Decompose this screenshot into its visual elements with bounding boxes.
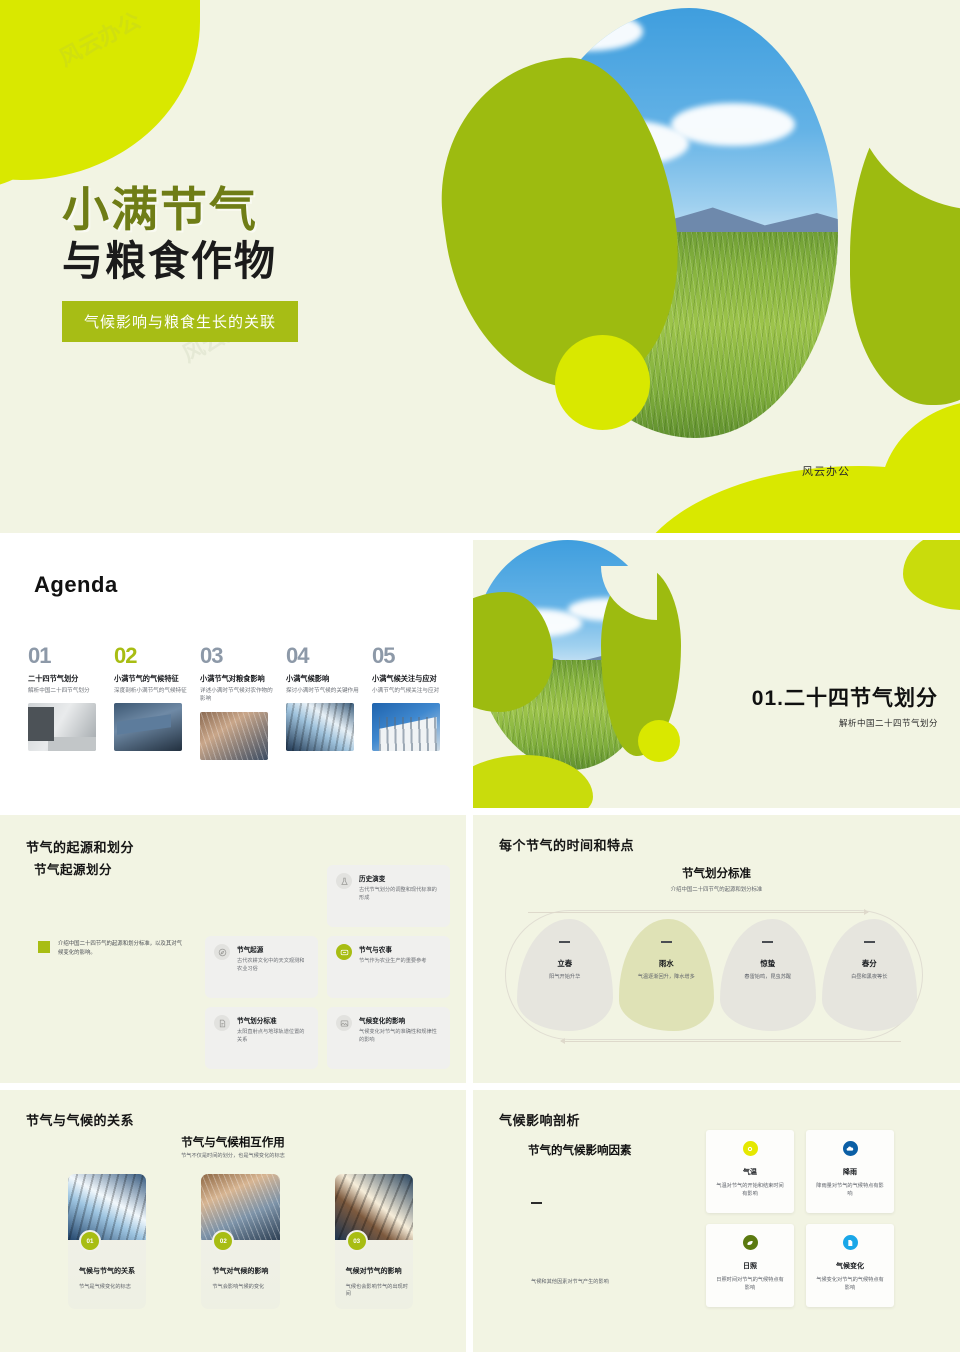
factor-desc: 气候变化对节气的气候特点有影响 xyxy=(814,1277,886,1293)
factor-card[interactable]: 降雨 降雨量对节气的气候特点有影响 xyxy=(806,1130,894,1213)
card-desc: 古代节气划分的调整和现代标准的形成 xyxy=(359,886,441,902)
slide-heading: 节气与气候的关系 xyxy=(26,1110,134,1129)
lime-dot xyxy=(638,720,680,762)
flask-icon xyxy=(336,873,352,889)
agenda-item-title: 小满气候影响 xyxy=(286,674,362,683)
slide-term-climate-relation[interactable]: 节气与气候的关系 节气与气候相互作用 节气不仅是时间的划分，也是气候变化的标志 … xyxy=(0,1090,466,1352)
cloud-icon xyxy=(843,1141,858,1156)
agenda-thumbnail xyxy=(114,703,182,751)
slide-heading: 节气的起源和划分 xyxy=(26,837,134,856)
timeline-subtitle: 介绍中国二十四节气的起源和划分标准 xyxy=(473,885,960,893)
intro-text: 介绍中国二十四节气的起源和划分标准，以及其对气候变化的影响。 xyxy=(58,940,183,957)
timeline-heading: 节气划分标准 xyxy=(473,865,960,881)
card-title: 气候与节气的关系 xyxy=(79,1266,146,1276)
lime-dot xyxy=(555,335,650,430)
agenda-item-desc: 小满节气的气候关注与应对 xyxy=(372,687,448,695)
agenda-item[interactable]: 02 小满节气的气候特征 深度剖析小满节气的气候特征 xyxy=(114,645,190,760)
agenda-thumbnail xyxy=(372,703,440,751)
brand-label: 风云办公 xyxy=(802,463,850,479)
timeline-node[interactable]: 雨水 气温逐渐回升，降水增多 xyxy=(619,919,715,1031)
card-thumbnail: 02 xyxy=(201,1174,279,1240)
card-desc: 太阳直射点与地球轨道位置的关系 xyxy=(237,1028,309,1044)
section-heading: 01.二十四节气划分 xyxy=(723,682,938,712)
node-title: 惊蛰 xyxy=(760,958,775,969)
agenda-item[interactable]: 01 二十四节气划分 解析中国二十四节气划分 xyxy=(28,645,104,760)
timeline-node[interactable]: 立春 阳气开始升华 xyxy=(517,919,613,1031)
node-marker xyxy=(864,941,875,943)
node-marker xyxy=(762,941,773,943)
card-badge: 03 xyxy=(346,1230,368,1252)
card-title: 气候对节气的影响 xyxy=(346,1266,413,1276)
feature-card[interactable]: 节气与农事 节气作为农业生产的重要参考 xyxy=(327,936,450,998)
timeline-nodes: 立春 阳气开始升华 雨水 气温逐渐回升，降水增多 惊蛰 春雷始鸣，昆虫苏醒 春分… xyxy=(517,919,917,1031)
card-title: 节气与农事 xyxy=(359,944,426,954)
node-title: 春分 xyxy=(862,958,877,969)
card-badge: 02 xyxy=(212,1230,234,1252)
feature-card[interactable]: 历史演变 古代节气划分的调整和现代标准的形成 xyxy=(327,865,450,927)
agenda-title: Agenda xyxy=(34,572,118,598)
agenda-item-title: 小满节气的气候特征 xyxy=(114,674,190,683)
agenda-item-desc: 深度剖析小满节气的气候特征 xyxy=(114,687,190,695)
agenda-item-desc: 解析中国二十四节气划分 xyxy=(28,687,104,695)
agenda-item[interactable]: 04 小满气候影响 探讨小满时节气候的关键作用 xyxy=(286,645,362,760)
agenda-number: 03 xyxy=(200,645,276,667)
slide-title[interactable]: 风云办公 风云办公 风云办公 风云办公 小满节气 与粮食作物 气候影响与粮 xyxy=(0,0,960,533)
node-marker xyxy=(661,941,672,943)
relation-card[interactable]: 03 气候对节气的影响 气候也会影响节气的出现时间 xyxy=(335,1174,413,1309)
feature-card[interactable]: 节气划分标准 太阳直射点与地球轨道位置的关系 xyxy=(205,1007,318,1069)
agenda-item[interactable]: 05 小满气候关注与应对 小满节气的气候关注与应对 xyxy=(372,645,448,760)
card-desc: 节气会影响气候的变化 xyxy=(212,1283,279,1290)
slide-origin-division[interactable]: 节气的起源和划分 节气起源划分 介绍中国二十四节气的起源和划分标准，以及其对气候… xyxy=(0,815,466,1083)
relation-cards: 01 气候与节气的关系 节气是气候变化的标志 02 节气对气候的影响 节气会影响… xyxy=(68,1174,413,1309)
factor-desc: 降雨量对节气的气候特点有影响 xyxy=(814,1183,886,1199)
factors-heading: 节气的气候影响因素 xyxy=(528,1142,632,1158)
card-desc: 气候变化对节气的准确性和规律性的影响 xyxy=(359,1028,441,1044)
file-icon xyxy=(843,1235,858,1250)
compass-icon xyxy=(214,944,230,960)
node-desc: 春雷始鸣，昆虫苏醒 xyxy=(731,974,805,982)
factor-card[interactable]: 气温 气温对节气的开始和结束时间有影响 xyxy=(706,1130,794,1213)
card-desc: 气候也会影响节气的出现时间 xyxy=(346,1283,413,1297)
factors-note: 气候和其他因素对节气产生的影响 xyxy=(531,1278,609,1285)
agenda-item-title: 二十四节气划分 xyxy=(28,674,104,683)
slide-subheading: 节气起源划分 xyxy=(34,859,112,878)
arrow-forward-icon xyxy=(528,912,868,913)
hero-illustration xyxy=(500,0,960,500)
card-thumbnail: 01 xyxy=(68,1174,146,1240)
feature-card[interactable]: 节气起源 古代农耕文化中的天文观测和农业习俗 xyxy=(205,936,318,998)
title-line-2: 与粮食作物 xyxy=(62,238,482,285)
card-title: 历史演变 xyxy=(359,873,441,883)
agenda-thumbnail xyxy=(28,703,96,751)
agenda-item[interactable]: 03 小满节气对粮食影响 详述小满时节气候对农作物的影响 xyxy=(200,645,276,760)
image-icon xyxy=(336,1015,352,1031)
factor-title: 降雨 xyxy=(843,1167,857,1177)
agenda-items: 01 二十四节气划分 解析中国二十四节气划分 02 小满节气的气候特征 深度剖析… xyxy=(28,645,448,760)
factor-desc: 日照时间对节气的气候特点有影响 xyxy=(714,1277,786,1293)
card-title: 节气划分标准 xyxy=(237,1015,309,1025)
timeline-node[interactable]: 惊蛰 春雷始鸣，昆虫苏醒 xyxy=(720,919,816,1031)
arrow-backward-icon xyxy=(561,1041,901,1042)
lime-square-marker xyxy=(38,941,50,953)
node-desc: 气温逐渐回升，降水增多 xyxy=(629,974,703,982)
dash-marker xyxy=(531,1202,542,1204)
card-badge: 01 xyxy=(79,1230,101,1252)
intro-block: 介绍中国二十四节气的起源和划分标准，以及其对气候变化的影响。 xyxy=(38,940,183,957)
agenda-item-title: 小满气候关注与应对 xyxy=(372,674,448,683)
slide-deck-preview: 风云办公 风云办公 风云办公 风云办公 小满节气 与粮食作物 气候影响与粮 xyxy=(0,0,960,1352)
factor-title: 气温 xyxy=(743,1167,757,1177)
card-title: 节气对气候的影响 xyxy=(212,1266,279,1276)
relation-heading: 节气与气候相互作用 xyxy=(0,1134,466,1150)
cloud-shape xyxy=(534,12,643,51)
document-icon xyxy=(214,1015,230,1031)
section-text-block: 01.二十四节气划分 解析中国二十四节气划分 xyxy=(723,682,938,729)
timeline-node[interactable]: 春分 白昼和黑夜等长 xyxy=(822,919,918,1031)
agenda-number: 05 xyxy=(372,645,448,667)
section-subtitle: 解析中国二十四节气划分 xyxy=(723,717,938,729)
agenda-thumbnail xyxy=(200,712,268,760)
card-desc: 节气作为农业生产的重要参考 xyxy=(359,957,426,965)
card-title: 气候变化的影响 xyxy=(359,1015,441,1025)
slide-section-01[interactable]: 01.二十四节气划分 解析中国二十四节气划分 xyxy=(473,540,960,808)
agenda-number: 02 xyxy=(114,645,190,667)
node-desc: 白昼和黑夜等长 xyxy=(832,974,906,982)
slide-climate-factors[interactable]: 气候影响剖析 节气的气候影响因素 气候和其他因素对节气产生的影响 气温 气温对节… xyxy=(473,1090,960,1352)
sun-icon xyxy=(743,1141,758,1156)
slide-solar-term-timeline[interactable]: 每个节气的时间和特点 节气划分标准 介绍中国二十四节气的起源和划分标准 立春 阳… xyxy=(473,815,960,1083)
slide-heading: 气候影响剖析 xyxy=(499,1110,580,1129)
agenda-item-title: 小满节气对粮食影响 xyxy=(200,674,276,683)
title-subtitle-badge: 气候影响与粮食生长的关联 xyxy=(62,301,298,342)
node-title: 雨水 xyxy=(659,958,674,969)
feature-card[interactable]: 气候变化的影响 气候变化对节气的准确性和规律性的影响 xyxy=(327,1007,450,1069)
node-marker xyxy=(559,941,570,943)
factor-card[interactable]: 日照 日照时间对节气的气候特点有影响 xyxy=(706,1224,794,1307)
agenda-item-desc: 探讨小满时节气候的关键作用 xyxy=(286,687,362,695)
card-desc: 节气是气候变化的标志 xyxy=(79,1283,146,1290)
factor-card[interactable]: 气候变化 气候变化对节气的气候特点有影响 xyxy=(806,1224,894,1307)
cloud-shape xyxy=(671,103,795,146)
factor-desc: 气温对节气的开始和结束时间有影响 xyxy=(714,1183,786,1199)
factor-cards: 气温 气温对节气的开始和结束时间有影响 降雨 降雨量对节气的气候特点有影响 日照… xyxy=(706,1130,894,1307)
agenda-number: 01 xyxy=(28,645,104,667)
relation-subtitle: 节气不仅是时间的划分，也是气候变化的标志 xyxy=(0,1152,466,1159)
card-title: 节气起源 xyxy=(237,944,309,954)
card-thumbnail: 03 xyxy=(335,1174,413,1240)
agenda-item-desc: 详述小满时节气候对农作物的影响 xyxy=(200,687,276,704)
slide-heading: 每个节气的时间和特点 xyxy=(499,835,634,854)
lime-blob-top-right xyxy=(903,540,960,610)
node-title: 立春 xyxy=(557,958,572,969)
relation-card[interactable]: 02 节气对气候的影响 节气会影响气候的变化 xyxy=(201,1174,279,1309)
leaf-icon xyxy=(743,1235,758,1250)
slide-agenda[interactable]: Agenda 01 二十四节气划分 解析中国二十四节气划分 02 小满节气的气候… xyxy=(0,540,466,808)
factor-title: 气候变化 xyxy=(836,1261,864,1271)
factor-title: 日照 xyxy=(743,1261,757,1271)
title-line-1: 小满节气 xyxy=(62,185,482,236)
title-block: 小满节气 与粮食作物 气候影响与粮食生长的关联 xyxy=(62,185,482,342)
agenda-number: 04 xyxy=(286,645,362,667)
minus-box-icon xyxy=(336,944,352,960)
node-desc: 阳气开始升华 xyxy=(528,974,602,982)
agenda-thumbnail xyxy=(286,703,354,751)
card-desc: 古代农耕文化中的天文观测和农业习俗 xyxy=(237,957,309,973)
relation-card[interactable]: 01 气候与节气的关系 节气是气候变化的标志 xyxy=(68,1174,146,1309)
